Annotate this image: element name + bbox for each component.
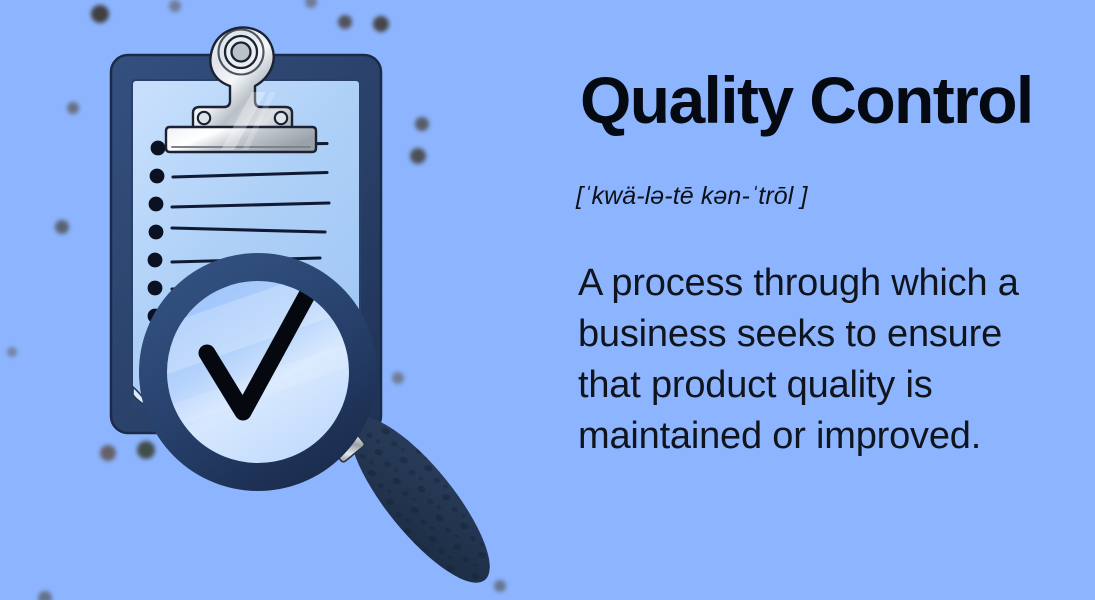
- pronunciation: [ˈkwä-lə-tē kən-ˈtrōl ]: [576, 180, 808, 213]
- definition-card: Quality Control [ˈkwä-lə-tē kən-ˈtrōl ] …: [0, 0, 1095, 600]
- definition-text-column: Quality Control [ˈkwä-lə-tē kən-ˈtrōl ] …: [576, 0, 1076, 600]
- clipboard-magnifier-illustration: [0, 0, 560, 600]
- term-title: Quality Control: [580, 66, 1033, 136]
- magnifying-glass: [150, 250, 550, 600]
- definition-text: A process through which a business seeks…: [578, 258, 1070, 462]
